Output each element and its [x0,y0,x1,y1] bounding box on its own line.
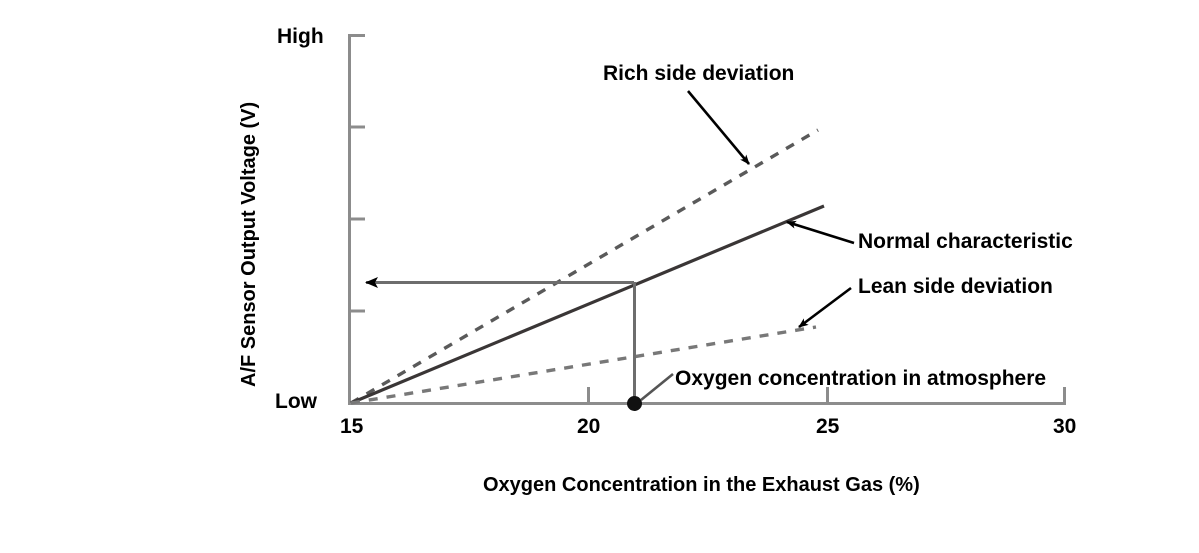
y-axis-title: A/F Sensor Output Voltage (V) [239,102,259,387]
series-line-rich-side-deviation [351,130,818,403]
x-axis-tick-label-25: 25 [816,416,839,437]
normal-characteristic-arrow [787,222,854,243]
lean-side-deviation-arrow [799,288,851,327]
y-axis-low-label: Low [275,391,317,412]
x-axis-title: Oxygen Concentration in the Exhaust Gas … [483,475,920,495]
annotation-lean-side-deviation: Lean side deviation [858,276,1053,297]
y-axis-high-label: High [277,26,324,47]
series-group [351,130,824,403]
atmosphere-data-point-marker [627,396,642,411]
annotation-oxygen-concentration-atmosphere: Oxygen concentration in atmosphere [675,368,1046,389]
x-axis-tick-label-30: 30 [1053,416,1076,437]
x-axis-tick-label-15: 15 [340,416,363,437]
guide-group [366,282,642,411]
axis-group [348,34,1066,405]
annotation-arrow-group [641,91,854,400]
annotation-rich-side-deviation: Rich side deviation [603,63,794,84]
chart-figure: High Low A/F Sensor Output Voltage (V) 1… [0,0,1199,553]
atmosphere-leader-line [641,374,673,400]
annotation-normal-characteristic: Normal characteristic [858,231,1073,252]
rich-side-deviation-arrow [688,91,749,164]
series-line-lean-side-deviation [351,327,816,403]
x-axis-tick-label-20: 20 [577,416,600,437]
